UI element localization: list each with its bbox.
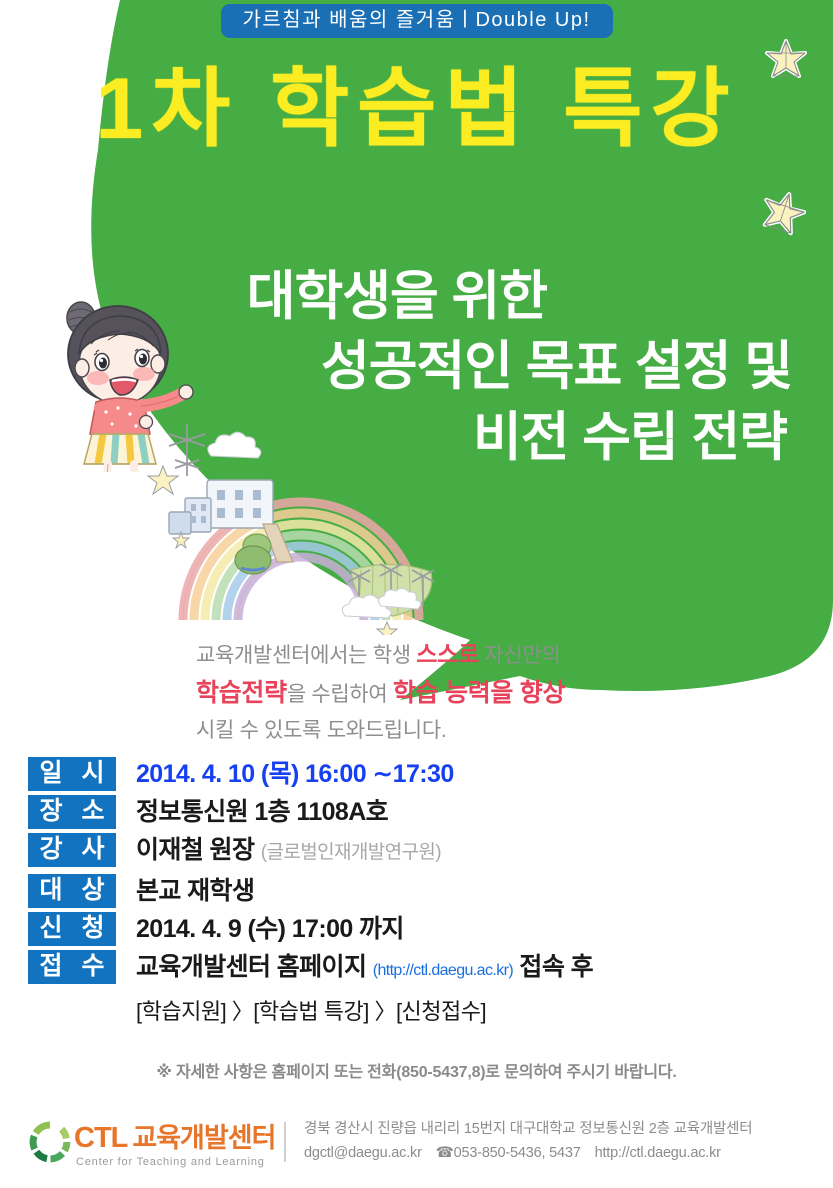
footer-contact-line: dgctl@daegu.ac.kr☎053-850-5436, 5437http… — [304, 1142, 752, 1166]
subtitle-line-3: 비전 수립 전략 — [0, 403, 795, 473]
info-label-lecturer: 강 사 — [28, 833, 116, 867]
desc-seg-3: 을 수립하여 — [287, 683, 393, 706]
info-value-datetime: 2014. 4. 10 (목) 16:00 ∼17:30 — [116, 757, 808, 791]
info-label-audience: 대 상 — [28, 874, 116, 908]
info-label-application: 신 청 — [28, 912, 116, 946]
info-row-audience: 대 상 본교 재학생 — [28, 874, 808, 908]
info-label-datetime: 일 시 — [28, 757, 116, 791]
event-info-table: 일 시 2014. 4. 10 (목) 16:00 ∼17:30 장 소 정보통… — [28, 757, 808, 1026]
footnote-text: ※ 자세한 사항은 홈페이지 또는 전화(850-5437,8)로 문의하여 주… — [0, 1058, 833, 1082]
star-icon-top-right — [764, 38, 808, 87]
top-banner: 가르침과 배움의 즐거움ㅣDouble Up! — [220, 4, 612, 38]
registration-tail: 접속 후 — [519, 953, 593, 981]
ctl-ring-icon — [28, 1120, 72, 1164]
top-banner-text: 가르침과 배움의 즐거움ㅣDouble Up! — [242, 9, 590, 31]
desc-highlight-1: 스스로 — [416, 641, 479, 667]
lecturer-affiliation: (글로벌인재개발연구원) — [261, 842, 441, 863]
info-row-datetime: 일 시 2014. 4. 10 (목) 16:00 ∼17:30 — [28, 757, 808, 791]
info-value-location: 정보통신원 1층 1108A호 — [116, 795, 808, 829]
info-value-registration: 교육개발센터 홈페이지 (http://ctl.daegu.ac.kr) 접속 … — [116, 950, 808, 988]
info-row-lecturer: 강 사 이재철 원장 (글로벌인재개발연구원) — [28, 833, 808, 870]
info-row-registration: 접 수 교육개발센터 홈페이지 (http://ctl.daegu.ac.kr)… — [28, 950, 808, 988]
description-line-3: 시킬 수 있도록 도와드립니다. — [196, 714, 565, 748]
ctl-logo-korean: 교육개발센터 — [132, 1116, 275, 1155]
desc-seg-1: 교육개발센터에서는 학생 — [196, 644, 416, 667]
ctl-logo-abbrev: CTL — [74, 1122, 127, 1155]
ctl-logo-tagline: Center for Teaching and Learning — [76, 1156, 275, 1168]
info-row-location: 장 소 정보통신원 1층 1108A호 — [28, 795, 808, 829]
registration-url-link[interactable]: (http://ctl.daegu.ac.kr) — [373, 962, 513, 979]
info-value-lecturer: 이재철 원장 (글로벌인재개발연구원) — [116, 833, 808, 870]
info-value-application: 2014. 4. 9 (수) 17:00 까지 — [116, 912, 808, 946]
star-icon-right — [760, 190, 806, 241]
info-row-application: 신 청 2014. 4. 9 (수) 17:00 까지 — [28, 912, 808, 946]
description-line-1: 교육개발센터에서는 학생 스스로 자신만의 — [196, 636, 565, 673]
subtitle-block: 대학생을 위한 성공적인 목표 설정 및 비전 수립 전략 — [0, 262, 795, 473]
subtitle-line-1: 대학생을 위한 — [0, 262, 795, 332]
ctl-logo: CTL 교육개발센터 Center for Teaching and Learn… — [28, 1116, 280, 1168]
desc-highlight-3: 학습 능력을 향상 — [393, 679, 565, 707]
info-label-location: 장 소 — [28, 795, 116, 829]
footer-contact-info: 경북 경산시 진량읍 내리리 15번지 대구대학교 정보통신원 2층 교육개발센… — [304, 1118, 752, 1166]
info-label-registration: 접 수 — [28, 950, 116, 984]
footer-address: 경북 경산시 진량읍 내리리 15번지 대구대학교 정보통신원 2층 교육개발센… — [304, 1118, 752, 1142]
description-paragraph: 교육개발센터에서는 학생 스스로 자신만의 학습전략을 수립하여 학습 능력을 … — [196, 636, 565, 748]
desc-seg-2: 자신만의 — [479, 644, 561, 667]
footer-divider — [284, 1122, 286, 1162]
description-line-2: 학습전략을 수립하여 학습 능력을 향상 — [196, 673, 565, 714]
registration-site-name: 교육개발센터 홈페이지 — [136, 953, 366, 981]
footer-phone: ☎053-850-5436, 5437 — [436, 1145, 581, 1161]
info-value-audience: 본교 재학생 — [116, 874, 808, 908]
registration-path-breadcrumb: [학습지원] 〉[학습법 특강] 〉[신청접수] — [28, 994, 808, 1026]
subtitle-line-2: 성공적인 목표 설정 및 — [0, 332, 795, 402]
footer-website[interactable]: http://ctl.daegu.ac.kr — [595, 1145, 721, 1161]
lecturer-name: 이재철 원장 — [136, 836, 254, 864]
desc-seg-4: 시킬 수 있도록 도와드립니다. — [196, 719, 446, 742]
page-title: 1차 학습법 특강 — [0, 62, 833, 157]
footer-email[interactable]: dgctl@daegu.ac.kr — [304, 1145, 422, 1161]
poster-canvas: 가르침과 배움의 즐거움ㅣDouble Up! 1차 학습법 특강 대학생을 위… — [0, 0, 833, 1188]
desc-highlight-2: 학습전략 — [196, 679, 287, 707]
footer-bar: CTL 교육개발센터 Center for Teaching and Learn… — [0, 1096, 833, 1188]
ctl-logo-text: CTL 교육개발센터 Center for Teaching and Learn… — [74, 1116, 275, 1168]
